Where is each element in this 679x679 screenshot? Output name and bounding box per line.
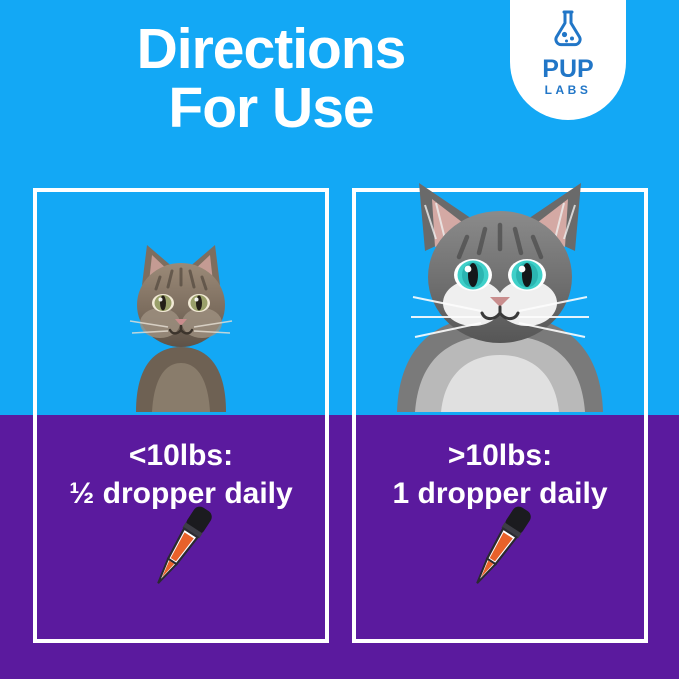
- directions-for-use-poster: Directions For Use PUP LABS: [0, 0, 679, 679]
- page-title: Directions For Use: [56, 20, 486, 137]
- brand-logo-badge: PUP LABS: [510, 0, 626, 120]
- brand-subtitle: LABS: [510, 83, 626, 97]
- tabby-cat-image: [106, 227, 256, 412]
- flask-icon: [510, 6, 626, 55]
- page-title-line-1: Directions: [56, 20, 486, 79]
- maine-coon-cat-image: [389, 177, 611, 412]
- weight-label: >10lbs:: [356, 437, 644, 475]
- dosage-panel-over-10lbs: >10lbs: 1 dropper daily: [352, 188, 648, 643]
- page-title-line-2: For Use: [56, 79, 486, 138]
- dropper-icon: [463, 500, 537, 601]
- brand-logo-inner: PUP LABS: [510, 6, 626, 97]
- brand-name: PUP: [510, 57, 626, 82]
- dropper-icon: [144, 500, 218, 601]
- dosage-panel-under-10lbs: <10lbs: ½ dropper daily: [33, 188, 329, 643]
- weight-label: <10lbs:: [37, 437, 325, 475]
